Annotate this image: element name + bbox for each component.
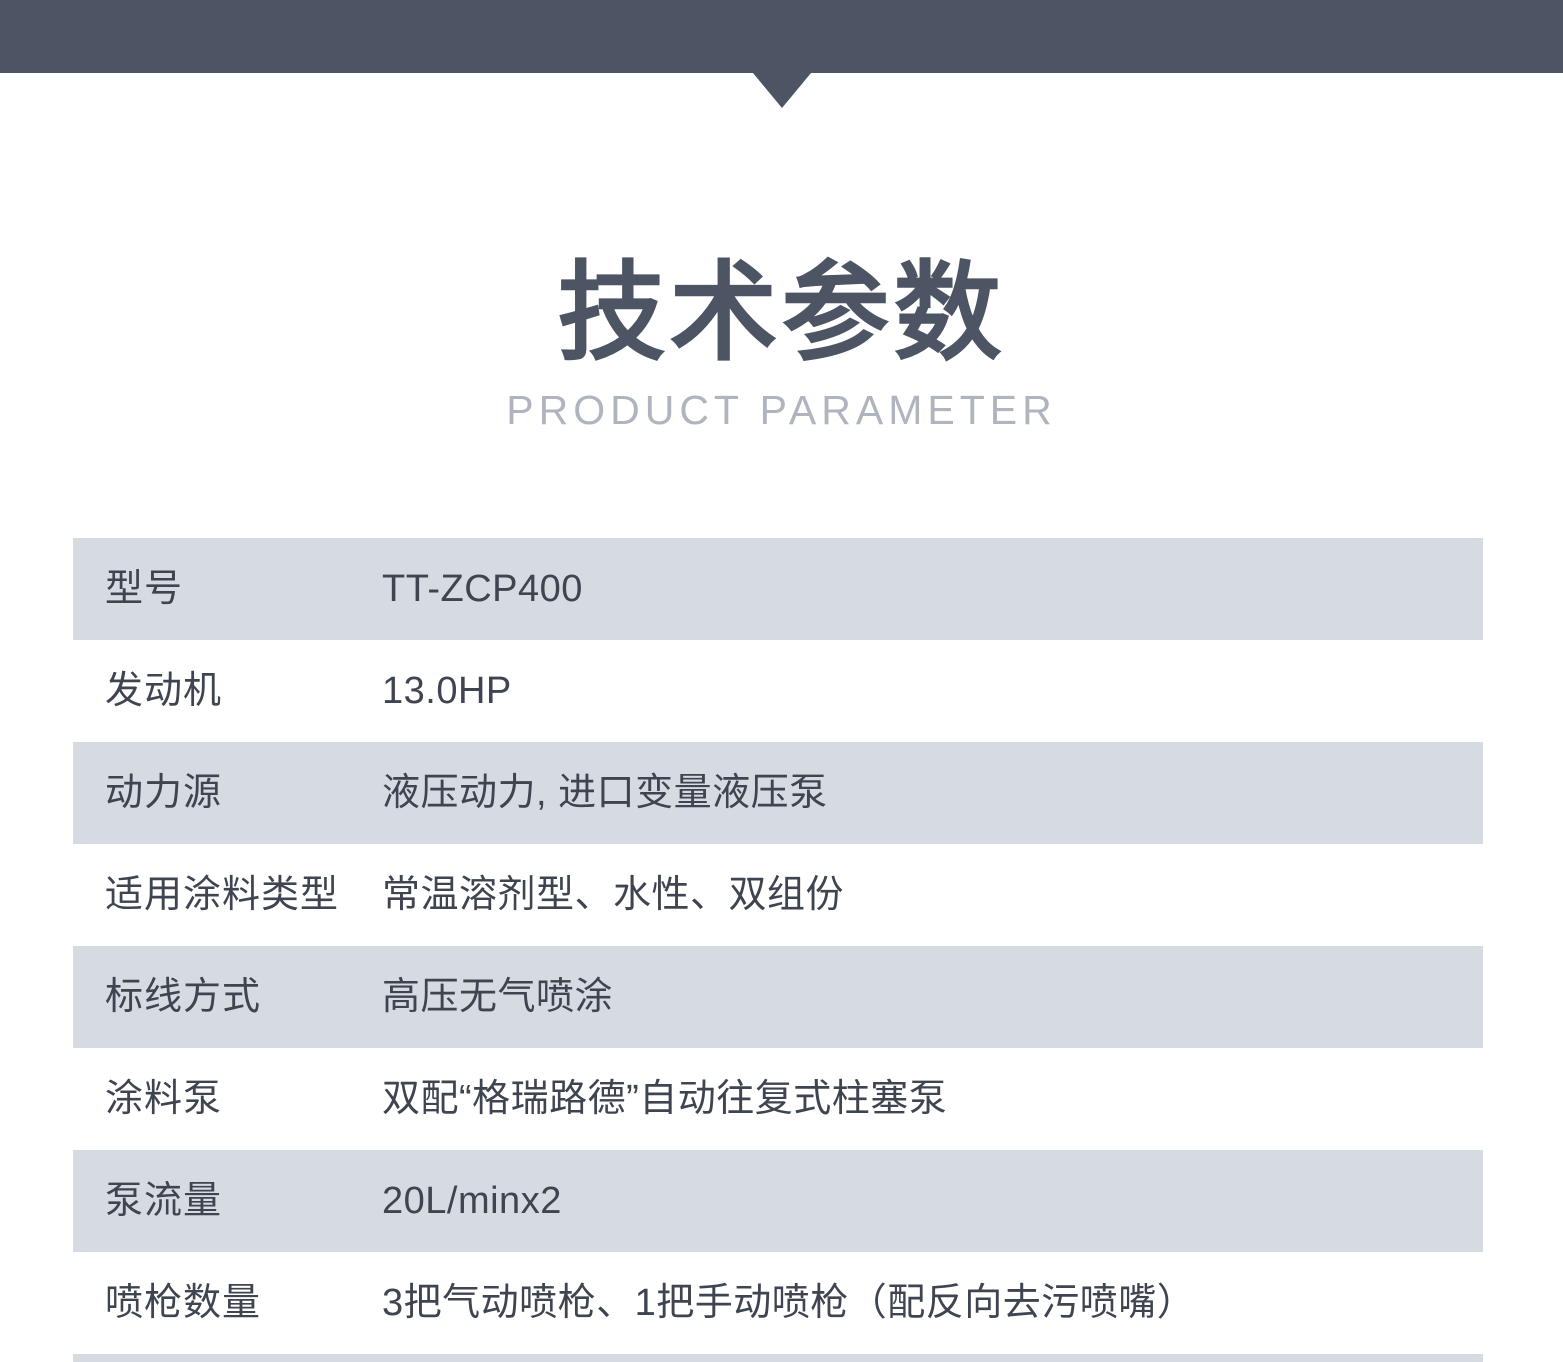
table-row: 泵流量20L/minx2 <box>0 1150 1563 1252</box>
spec-value: 双配“格瑞路德”自动往复式柱塞泵 <box>382 1080 1563 1118</box>
spec-value: 常温溶剂型、水性、双组份 <box>382 876 1563 914</box>
table-row: 标线方式高压无气喷涂 <box>0 946 1563 1048</box>
spec-value: 13.0HP <box>382 672 1563 710</box>
spec-label: 发动机 <box>0 672 382 710</box>
product-parameter-page: 技术参数 PRODUCT PARAMETER 型号TT-ZCP400发动机13.… <box>0 0 1563 1362</box>
table-row: 涂料泵双配“格瑞路德”自动往复式柱塞泵 <box>0 1048 1563 1150</box>
spec-value: 液压动力, 进口变量液压泵 <box>382 774 1563 812</box>
spec-label: 喷枪数量 <box>0 1284 382 1322</box>
spec-label: 泵流量 <box>0 1182 382 1220</box>
spec-label: 标线方式 <box>0 978 382 1016</box>
spec-label: 适用涂料类型 <box>0 876 382 914</box>
spec-value: 20L/minx2 <box>382 1182 1563 1220</box>
spec-label: 动力源 <box>0 774 382 812</box>
spec-value: TT-ZCP400 <box>382 570 1563 608</box>
table-row: 型号TT-ZCP400 <box>0 538 1563 640</box>
top-band-notch-icon <box>753 73 811 108</box>
top-dark-band <box>0 0 1563 73</box>
spec-value: 高压无气喷涂 <box>382 978 1563 1016</box>
page-heading: 技术参数 PRODUCT PARAMETER <box>0 255 1563 433</box>
spec-value: 3把气动喷枪、1把手动喷枪（配反向去污喷嘴） <box>382 1284 1563 1322</box>
spec-label: 型号 <box>0 570 382 608</box>
table-row: 动力源液压动力, 进口变量液压泵 <box>0 742 1563 844</box>
page-subtitle: PRODUCT PARAMETER <box>0 388 1563 433</box>
table-row: 喷枪数量3把气动喷枪、1把手动喷枪（配反向去污喷嘴） <box>0 1252 1563 1354</box>
spec-table: 型号TT-ZCP400发动机13.0HP动力源液压动力, 进口变量液压泵适用涂料… <box>0 538 1563 1362</box>
page-title: 技术参数 <box>0 255 1563 372</box>
table-row: 适用涂料类型常温溶剂型、水性、双组份 <box>0 844 1563 946</box>
table-row <box>0 1354 1563 1362</box>
spec-label: 涂料泵 <box>0 1080 382 1118</box>
table-row: 发动机13.0HP <box>0 640 1563 742</box>
